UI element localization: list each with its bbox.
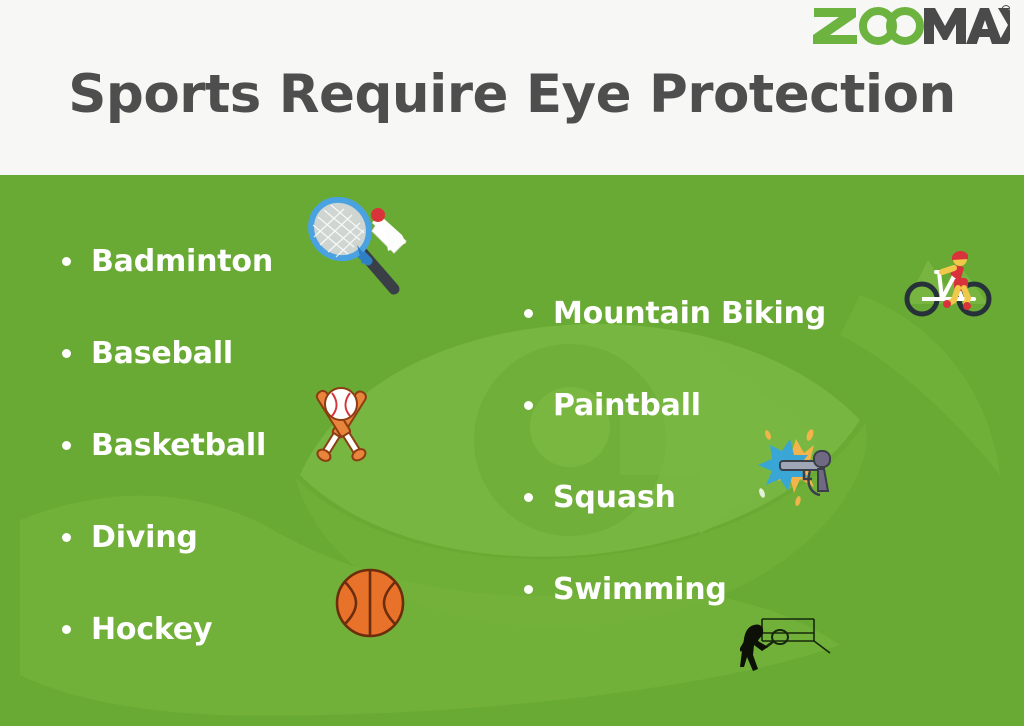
page-title: Sports Require Eye Protection	[0, 64, 1024, 125]
svg-text:R: R	[1004, 8, 1008, 14]
sport-label: Mountain Biking	[553, 296, 826, 331]
sport-label: Badminton	[91, 244, 273, 279]
sport-label: Baseball	[91, 336, 233, 371]
bullet-icon	[62, 625, 71, 634]
list-item[interactable]: Diving	[62, 491, 492, 583]
zoomax-logo: R	[810, 4, 1010, 46]
sport-label: Swimming	[553, 572, 727, 607]
list-item[interactable]: Hockey	[62, 583, 492, 675]
bullet-icon	[524, 309, 533, 318]
bullet-icon	[62, 533, 71, 542]
sport-label: Paintball	[553, 388, 701, 423]
bullet-icon	[62, 257, 71, 266]
list-item[interactable]: Baseball	[62, 307, 492, 399]
bullet-icon	[524, 493, 533, 502]
list-item[interactable]: Badminton	[62, 215, 492, 307]
bullet-icon	[524, 401, 533, 410]
sport-label: Basketball	[91, 428, 266, 463]
sport-label: Diving	[91, 520, 198, 555]
list-item[interactable]: Swimming	[524, 543, 994, 635]
list-item[interactable]: Basketball	[62, 399, 492, 491]
list-item[interactable]: Mountain Biking	[524, 267, 994, 359]
list-item[interactable]: Squash	[524, 451, 994, 543]
header-band: R Sports Require Eye Protection	[0, 0, 1024, 175]
bullet-icon	[62, 441, 71, 450]
infographic-page: R Sports Require Eye Protection	[0, 0, 1024, 726]
bullet-icon	[62, 349, 71, 358]
bullet-icon	[524, 585, 533, 594]
zoomax-logo-svg: R	[810, 4, 1010, 46]
left-column: Badminton	[62, 215, 492, 675]
sport-label: Hockey	[91, 612, 212, 647]
content-panel: Badminton	[0, 175, 1024, 726]
sport-label: Squash	[553, 480, 676, 515]
right-column: Mountain Biking	[524, 267, 994, 635]
list-item[interactable]: Paintball	[524, 359, 994, 451]
